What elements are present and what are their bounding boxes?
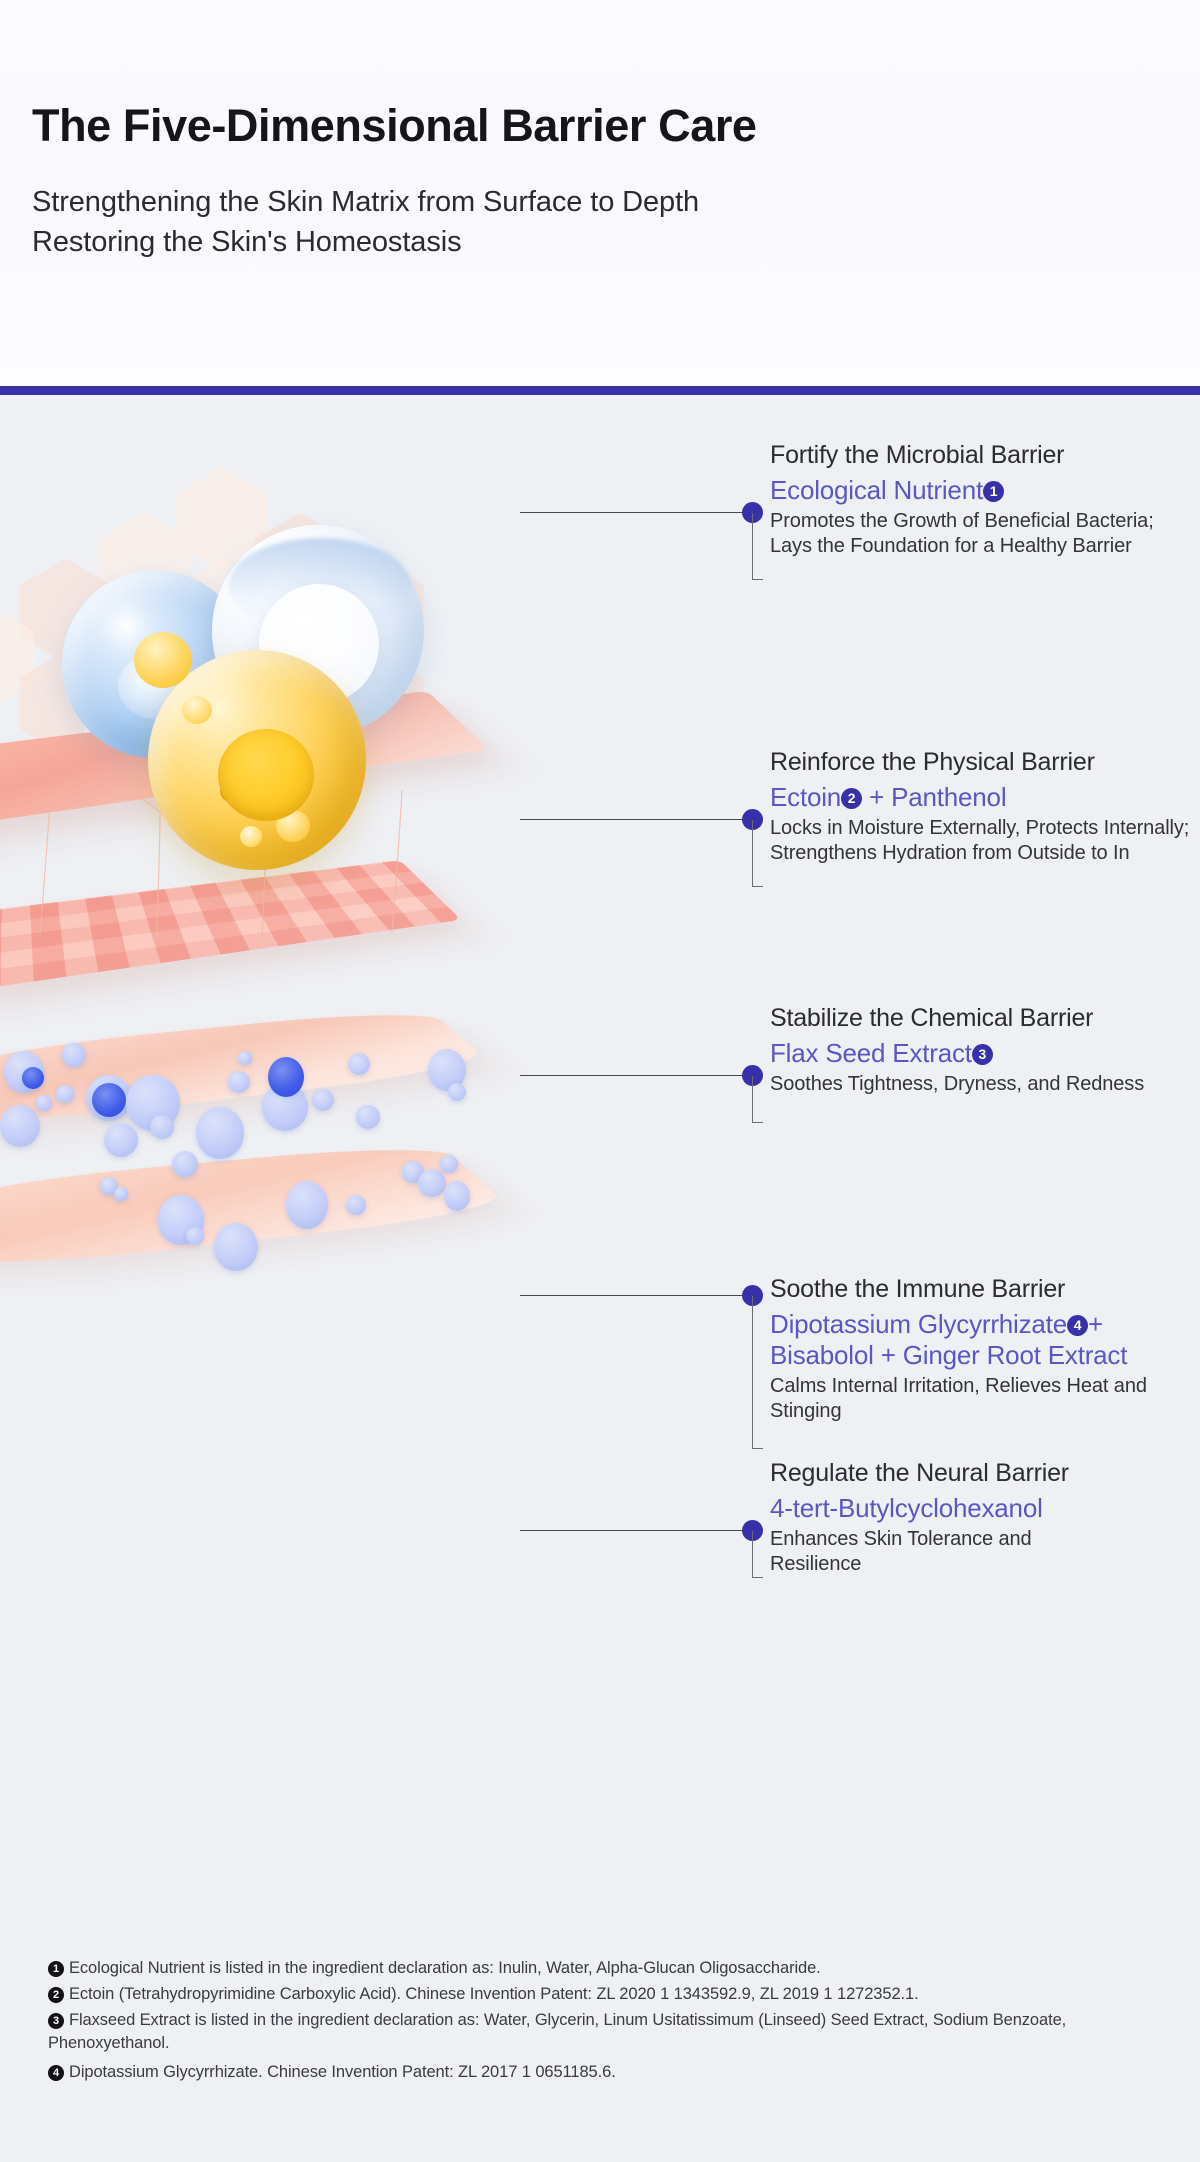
leader-line-5 <box>520 1530 752 1531</box>
callout-2-superscript: 2 <box>841 788 862 809</box>
callout-3-ingredient-line: Flax Seed Extract3 <box>770 1038 1190 1069</box>
callout-4-heading: Soothe the Immune Barrier <box>770 1275 1200 1305</box>
footnote-1-number: 1 <box>48 1961 64 1977</box>
callout-3-superscript: 3 <box>972 1044 993 1065</box>
leader-line-1 <box>520 512 752 513</box>
leader-bracket-3 <box>752 1076 753 1122</box>
footnote-4: 4Dipotassium Glycyrrhizate. Chinese Inve… <box>48 2061 1168 2084</box>
callout-5-description: Enhances Skin Tolerance and Resilience <box>770 1527 1100 1577</box>
callout-4: Soothe the Immune Barrier Dipotassium Gl… <box>770 1275 1200 1424</box>
footnote-3: 3Flaxseed Extract is listed in the ingre… <box>48 2009 1168 2056</box>
footnote-4-number: 4 <box>48 2065 64 2081</box>
callout-4-superscript: 4 <box>1067 1315 1088 1336</box>
callout-4-description: Calms Internal Irritation, Relieves Heat… <box>770 1374 1190 1424</box>
footnotes-section: 1Ecological Nutrient is listed in the in… <box>0 1915 1200 2162</box>
leader-line-4 <box>520 1295 752 1296</box>
callout-1-superscript: 1 <box>983 481 1004 502</box>
leader-bracket-foot-1 <box>752 579 763 580</box>
subtitle-line-1: Strengthening the Skin Matrix from Surfa… <box>32 182 699 222</box>
footnote-2-number: 2 <box>48 1987 64 2003</box>
leader-bracket-2 <box>752 820 753 886</box>
callout-4-ingredient: Dipotassium Glycyrrhizate <box>770 1309 1067 1339</box>
leader-bracket-foot-5 <box>752 1577 763 1578</box>
callout-2: Reinforce the Physical Barrier Ectoin2 +… <box>770 748 1200 866</box>
leader-line-3 <box>520 1075 752 1076</box>
page-title: The Five-Dimensional Barrier Care <box>32 100 757 152</box>
leader-bracket-4 <box>752 1296 753 1448</box>
immune-cell-cluster <box>0 1035 520 1325</box>
callout-2-description: Locks in Moisture Externally, Protects I… <box>770 816 1190 866</box>
footnote-3-text: Flaxseed Extract is listed in the ingred… <box>48 2011 1066 2052</box>
callout-3-heading: Stabilize the Chemical Barrier <box>770 1004 1190 1034</box>
footnote-4-text: Dipotassium Glycyrrhizate. Chinese Inven… <box>69 2063 616 2081</box>
gold-gel-sphere <box>148 650 366 870</box>
illustration-stage: Fortify the Microbial Barrier Ecological… <box>0 395 1200 1915</box>
callout-1: Fortify the Microbial Barrier Ecological… <box>770 441 1190 559</box>
callout-5-heading: Regulate the Neural Barrier <box>770 1459 1190 1489</box>
callout-5-ingredient-line: 4-tert-Butylcyclohexanol <box>770 1493 1190 1524</box>
callout-2-ingredient-line: Ectoin2 + Panthenol <box>770 782 1200 813</box>
leader-bracket-foot-3 <box>752 1122 763 1123</box>
subtitle-line-2: Restoring the Skin's Homeostasis <box>32 222 699 262</box>
callout-3-description: Soothes Tightness, Dryness, and Redness <box>770 1072 1160 1097</box>
callout-4-ingredient-line: Dipotassium Glycyrrhizate4+ Bisabolol + … <box>770 1309 1190 1371</box>
leader-bracket-foot-2 <box>752 886 763 887</box>
leader-bracket-1 <box>752 513 753 579</box>
callout-5: Regulate the Neural Barrier 4-tert-Butyl… <box>770 1459 1190 1577</box>
footnote-2: 2Ectoin (Tetrahydropyrimidine Carboxylic… <box>48 1983 1168 2006</box>
page-header: The Five-Dimensional Barrier Care Streng… <box>0 0 1200 386</box>
header-divider-rule <box>0 386 1200 395</box>
leader-bracket-5 <box>752 1531 753 1577</box>
callout-3-ingredient: Flax Seed Extract <box>770 1038 972 1068</box>
callout-2-ingredient: Ectoin <box>770 782 841 812</box>
callout-1-heading: Fortify the Microbial Barrier <box>770 441 1190 471</box>
page-subtitle: Strengthening the Skin Matrix from Surfa… <box>32 182 699 262</box>
footnote-1-text: Ecological Nutrient is listed in the ing… <box>69 1959 821 1977</box>
callout-1-ingredient: Ecological Nutrient <box>770 475 983 505</box>
footnote-3-number: 3 <box>48 2013 64 2029</box>
callout-1-ingredient-line: Ecological Nutrient1 <box>770 475 1190 506</box>
leader-line-2 <box>520 819 752 820</box>
callout-2-heading: Reinforce the Physical Barrier <box>770 748 1200 778</box>
callout-5-ingredient: 4-tert-Butylcyclohexanol <box>770 1493 1043 1523</box>
callout-2-ingredient-suffix: + Panthenol <box>862 782 1006 812</box>
callout-3: Stabilize the Chemical Barrier Flax Seed… <box>770 1004 1190 1097</box>
callout-1-description: Promotes the Growth of Beneficial Bacter… <box>770 509 1170 559</box>
footnote-1: 1Ecological Nutrient is listed in the in… <box>48 1957 1168 1980</box>
leader-bracket-foot-4 <box>752 1448 763 1449</box>
footnote-2-text: Ectoin (Tetrahydropyrimidine Carboxylic … <box>69 1985 919 2003</box>
